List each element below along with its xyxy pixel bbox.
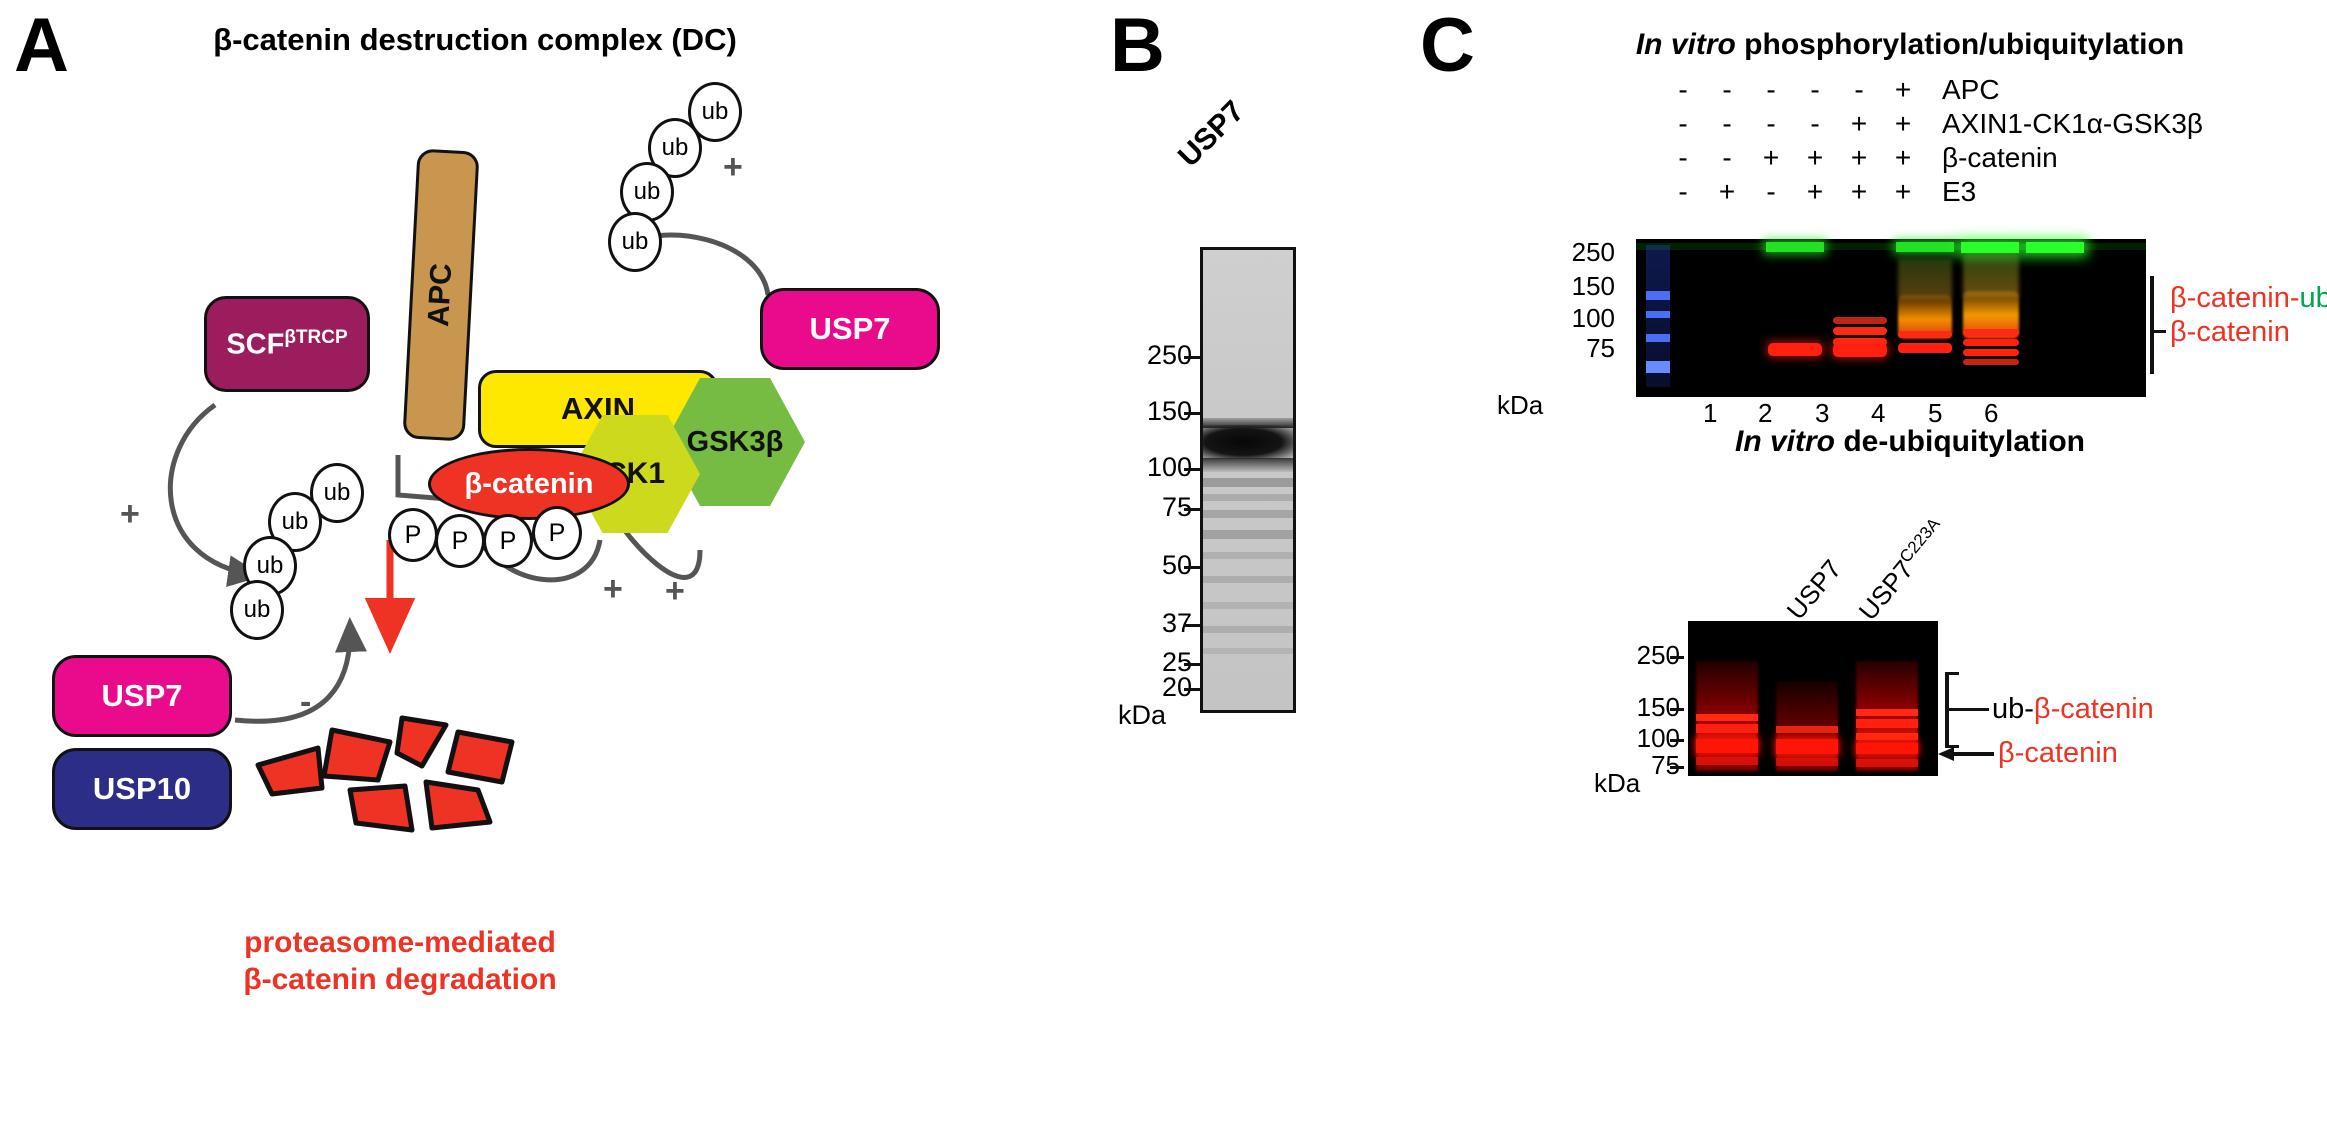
band-label-bcatenin-red: β-catenin <box>2034 693 2154 725</box>
plus-sign-ck1: + <box>603 570 623 609</box>
gel-b-lane-label: USP7 <box>1172 95 1251 174</box>
lane3-superscript: C223A <box>1896 514 1944 566</box>
ub-bracket-top <box>2150 276 2154 374</box>
matrix-cell: + <box>1882 108 1924 140</box>
matrix-cell: - <box>1662 108 1704 140</box>
matrix-cell: - <box>1662 176 1704 208</box>
band-label-bcatenin-ubn: β-catenin-ubn <box>2170 282 2327 320</box>
panel-c-bottom-title-rest: de-ubiquitylation <box>1835 425 2085 458</box>
mw-marker-250: 250 <box>1495 237 1615 268</box>
panel-c-top-title-italic: In vitro <box>1636 28 1736 61</box>
gel-c-bottom-kda-label: kDa <box>1594 768 1640 799</box>
plus-sign-gsk3b: + <box>665 572 685 611</box>
bcatenin-node: β-catenin <box>428 448 630 520</box>
band-label-ub-bcatenin: ub-β-catenin <box>1992 693 2154 726</box>
band-label-bcatenin-top: β-catenin <box>2170 316 2290 349</box>
matrix-cell: + <box>1794 176 1836 208</box>
usp10-label: USP10 <box>93 771 191 807</box>
degradation-line-1: proteasome-mediated <box>180 925 620 962</box>
panel-c-bottom-title-italic: In vitro <box>1735 425 1835 458</box>
phosphate-circle: P <box>435 514 485 568</box>
matrix-cell: - <box>1662 74 1704 106</box>
degradation-line-2: β-catenin degradation <box>180 962 620 999</box>
panel-c-letter: C <box>1420 8 1474 84</box>
panel-c-top-title-rest: phosphorylation/ubiquitylation <box>1736 28 2184 61</box>
band-label-ub: ub <box>2300 282 2327 314</box>
matrix-row-label: β-catenin <box>1926 142 2203 174</box>
panel-c-condition-matrix: - - - - - + APC - - - - + + AXIN1-CK1α-G… <box>1660 72 2205 210</box>
mw-marker-150: 150 <box>1100 396 1192 427</box>
matrix-cell: - <box>1750 74 1792 106</box>
matrix-row-label: E3 <box>1926 176 2203 208</box>
gel-b-image <box>1200 247 1296 713</box>
usp7-left-node: USP7 <box>52 655 232 737</box>
plus-sign-usp7-right: + <box>723 148 743 187</box>
matrix-row-label: AXIN1-CK1α-GSK3β <box>1926 108 2203 140</box>
gel-b-kda-label: kDa <box>1118 700 1166 731</box>
gel-c-top-kda-label: kDa <box>1497 390 1543 421</box>
band-label-ub-prefix: ub- <box>1992 693 2034 725</box>
matrix-cell: + <box>1882 176 1924 208</box>
gel-c-bottom-image <box>1688 621 1938 776</box>
matrix-row: - + - + + + E3 <box>1662 176 2203 208</box>
phosphate-circle: P <box>532 506 582 560</box>
matrix-row: - - + + + + β-catenin <box>1662 142 2203 174</box>
proteasome-fragments-icon <box>250 690 550 840</box>
apc-label: APC <box>422 262 459 327</box>
matrix-cell: + <box>1794 142 1836 174</box>
usp10-node: USP10 <box>52 748 232 830</box>
gsk3b-label: GSK3β <box>687 426 784 459</box>
matrix-cell: - <box>1794 74 1836 106</box>
destruction-complex-diagram: APC SCFβTRCP AXIN GSK3β CK1 β-catenin US… <box>0 0 1120 1139</box>
mw-marker-100: 100 <box>1100 452 1192 483</box>
mw-marker-150: 150 <box>1580 692 1680 723</box>
degradation-caption: proteasome-mediated β-catenin degradatio… <box>180 925 620 998</box>
matrix-cell: + <box>1838 176 1880 208</box>
mw-marker-250: 250 <box>1580 640 1680 671</box>
ub-circle: ub <box>230 580 284 640</box>
plus-sign-scf: + <box>120 495 140 534</box>
scf-btrcp-node: SCFβTRCP <box>204 296 370 392</box>
bcatenin-tick-top <box>2150 330 2166 333</box>
matrix-row: - - - - - + APC <box>1662 74 2203 106</box>
panel-c-bottom-title: In vitro de-ubiquitylation <box>1530 425 2290 459</box>
mw-marker-37: 37 <box>1100 608 1192 639</box>
mw-marker-150: 150 <box>1495 271 1615 302</box>
mw-marker-75: 75 <box>1495 333 1615 364</box>
matrix-row: - - - - + + AXIN1-CK1α-GSK3β <box>1662 108 2203 140</box>
band-label-bcatenin-bottom: β-catenin <box>1998 737 2118 770</box>
matrix-cell: - <box>1706 108 1748 140</box>
matrix-cell: - <box>1706 142 1748 174</box>
matrix-cell: + <box>1838 108 1880 140</box>
matrix-cell: + <box>1750 142 1792 174</box>
matrix-row-label: APC <box>1926 74 2203 106</box>
usp7-right-label: USP7 <box>810 311 891 347</box>
matrix-cell: - <box>1706 74 1748 106</box>
ub-circle: ub <box>608 212 662 272</box>
matrix-cell: - <box>1750 108 1792 140</box>
mw-marker-100: 100 <box>1495 303 1615 334</box>
time-label: t=60 min <box>2022 357 2122 388</box>
mw-marker-20: 20 <box>1100 672 1192 703</box>
scf-superscript: βTRCP <box>284 327 347 348</box>
bcatenin-arrow-icon <box>1938 742 1994 766</box>
matrix-cell: - <box>1662 142 1704 174</box>
mw-marker-50: 50 <box>1100 550 1192 581</box>
mw-marker-75: 75 <box>1100 492 1192 523</box>
usp7-right-node: USP7 <box>760 288 940 370</box>
panel-c-top-title: In vitro phosphorylation/ubiquitylation <box>1530 28 2290 62</box>
matrix-cell: + <box>1706 176 1748 208</box>
matrix-cell: - <box>1750 176 1792 208</box>
matrix-cell: + <box>1882 142 1924 174</box>
matrix-cell: + <box>1838 142 1880 174</box>
mw-marker-250: 250 <box>1100 340 1192 371</box>
matrix-cell: - <box>1794 108 1836 140</box>
phosphate-circle: P <box>388 508 438 562</box>
scf-label: SCF <box>226 328 284 360</box>
usp7-left-label: USP7 <box>102 678 183 714</box>
phosphate-circle: P <box>483 514 533 568</box>
panel-b-letter: B <box>1110 8 1164 84</box>
matrix-cell: - <box>1838 74 1880 106</box>
band-label-prefix: β-catenin- <box>2170 282 2300 314</box>
bcatenin-label: β-catenin <box>465 468 594 501</box>
matrix-cell: + <box>1882 74 1924 106</box>
